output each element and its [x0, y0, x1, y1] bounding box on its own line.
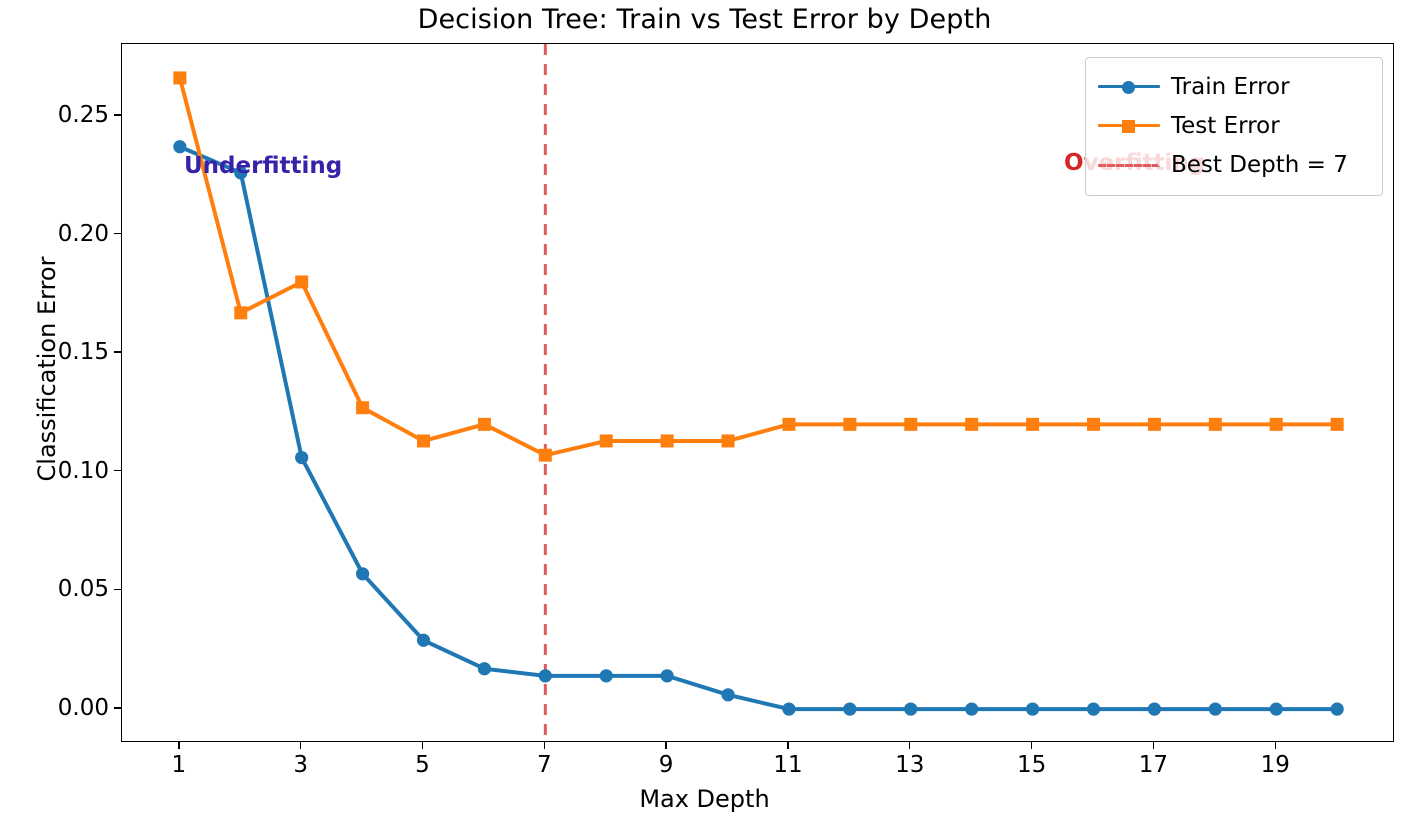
legend-item[interactable]: Train Error [1098, 67, 1370, 106]
data-point-marker [1148, 418, 1161, 431]
x-tick-label: 13 [880, 752, 940, 778]
data-point-marker [904, 702, 917, 715]
data-point-marker [782, 702, 795, 715]
y-axis-label: Classification Error [33, 89, 61, 649]
chart-title: Decision Tree: Train vs Test Error by De… [0, 4, 1409, 35]
data-point-marker [904, 418, 917, 431]
annotation-underfitting: Underfitting [184, 153, 342, 179]
data-point-marker [1270, 702, 1283, 715]
x-tick-mark [787, 742, 788, 749]
data-point-marker [295, 451, 308, 464]
legend-marker-square-icon [1122, 120, 1135, 133]
data-point-marker [965, 418, 978, 431]
series-train-error [173, 140, 1343, 716]
legend-item[interactable]: Test Error [1098, 106, 1370, 145]
data-point-marker [1331, 418, 1344, 431]
x-tick-label: 17 [1123, 752, 1183, 778]
y-tick-label: 0.10 [17, 458, 109, 484]
data-point-marker [1026, 702, 1039, 715]
y-tick-mark [114, 470, 121, 471]
data-point-marker [843, 702, 856, 715]
legend-swatch [1098, 74, 1160, 100]
y-tick-label: 0.05 [17, 576, 109, 602]
data-point-marker [356, 567, 369, 580]
legend-line-icon [1098, 164, 1160, 167]
x-tick-mark [178, 742, 179, 749]
y-tick-label: 0.00 [17, 695, 109, 721]
data-point-marker [539, 669, 552, 682]
data-point-marker [721, 688, 734, 701]
data-point-marker [661, 434, 674, 447]
y-tick-mark [114, 351, 121, 352]
y-tick-mark [114, 707, 121, 708]
legend-label: Test Error [1171, 113, 1280, 139]
x-tick-label: 19 [1245, 752, 1305, 778]
data-point-marker [965, 702, 978, 715]
y-tick-mark [114, 233, 121, 234]
x-tick-mark [300, 742, 301, 749]
x-tick-mark [665, 742, 666, 749]
x-tick-mark [1153, 742, 1154, 749]
data-point-marker [356, 401, 369, 414]
data-point-marker [1209, 702, 1222, 715]
x-axis-label: Max Depth [0, 785, 1409, 813]
data-point-marker [1148, 702, 1161, 715]
data-point-marker [600, 669, 613, 682]
legend-item[interactable]: Best Depth = 7 [1098, 145, 1370, 184]
x-tick-label: 5 [393, 752, 453, 778]
x-tick-label: 9 [636, 752, 696, 778]
x-tick-mark [909, 742, 910, 749]
y-tick-mark [114, 114, 121, 115]
data-point-marker [1087, 702, 1100, 715]
data-point-marker [417, 434, 430, 447]
x-tick-label: 3 [271, 752, 331, 778]
x-tick-label: 1 [149, 752, 209, 778]
y-tick-label: 0.20 [17, 221, 109, 247]
data-point-marker [539, 449, 552, 462]
data-point-marker [1270, 418, 1283, 431]
data-point-marker [417, 634, 430, 647]
data-point-marker [1331, 702, 1344, 715]
data-point-marker [843, 418, 856, 431]
series-line [180, 147, 1337, 709]
data-point-marker [234, 306, 247, 319]
data-point-marker [1026, 418, 1039, 431]
legend-label: Train Error [1171, 74, 1290, 100]
data-point-marker [295, 275, 308, 288]
data-point-marker [478, 418, 491, 431]
data-point-marker [661, 669, 674, 682]
data-point-marker [478, 662, 491, 675]
legend-swatch [1098, 152, 1160, 178]
x-tick-mark [1275, 742, 1276, 749]
y-tick-label: 0.15 [17, 339, 109, 365]
data-point-marker [782, 418, 795, 431]
x-tick-label: 15 [1002, 752, 1062, 778]
x-tick-mark [1031, 742, 1032, 749]
legend-swatch [1098, 113, 1160, 139]
data-point-marker [173, 71, 186, 84]
data-point-marker [600, 434, 613, 447]
chart-figure: Decision Tree: Train vs Test Error by De… [0, 0, 1409, 833]
x-tick-label: 7 [514, 752, 574, 778]
data-point-marker [1209, 418, 1222, 431]
data-point-marker [1087, 418, 1100, 431]
legend-marker-circle-icon [1122, 81, 1135, 94]
x-tick-label: 11 [758, 752, 818, 778]
data-point-marker [722, 434, 735, 447]
y-tick-label: 0.25 [17, 102, 109, 128]
data-point-marker [173, 140, 186, 153]
x-tick-mark [544, 742, 545, 749]
legend-label: Best Depth = 7 [1171, 152, 1348, 178]
x-tick-mark [422, 742, 423, 749]
y-tick-mark [114, 589, 121, 590]
chart-legend: Train ErrorTest ErrorBest Depth = 7 [1085, 57, 1383, 196]
